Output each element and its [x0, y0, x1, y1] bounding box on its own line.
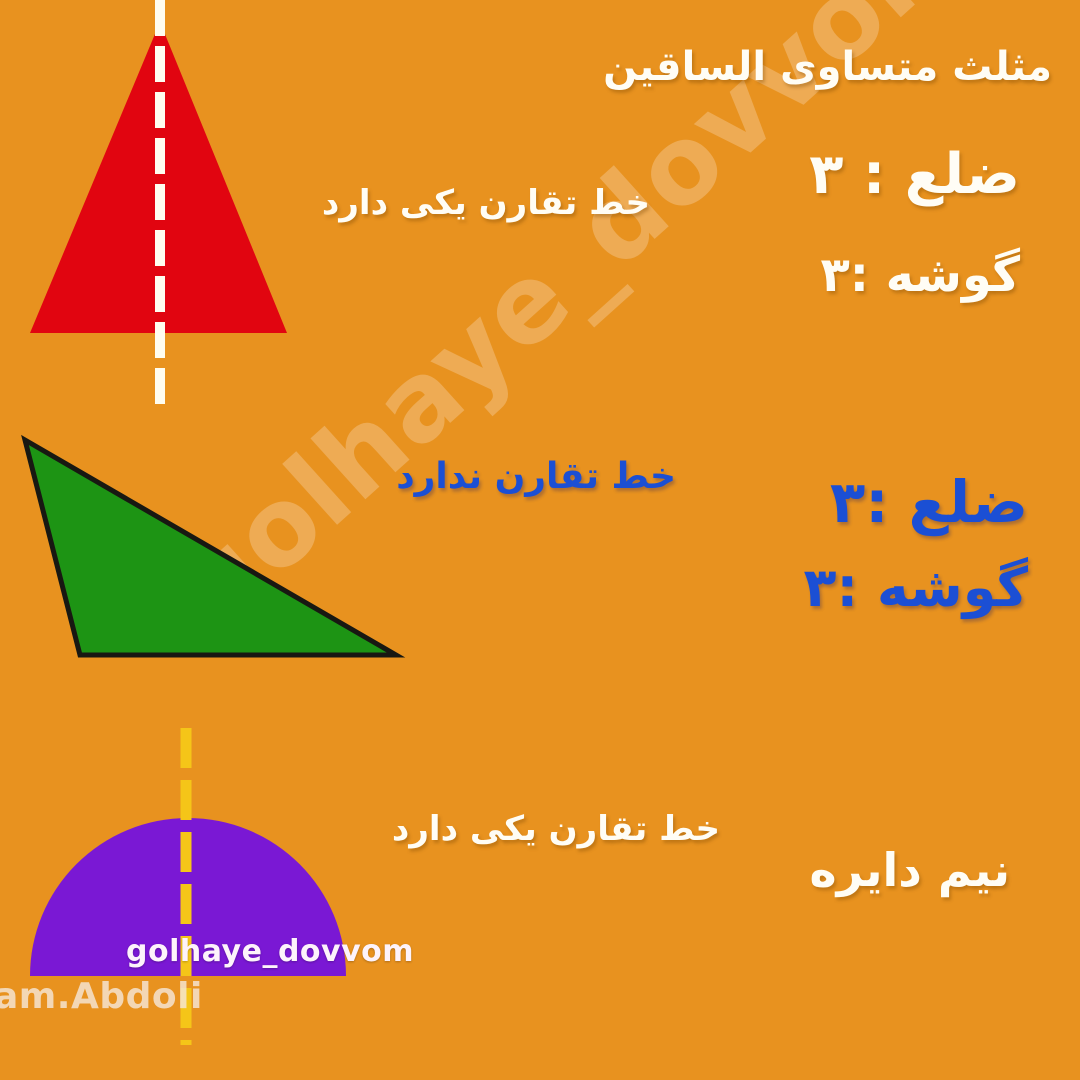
poster-canvas: golhaye_dovvom مثلث متساوی الساقین ضلع :… [0, 0, 1080, 1080]
semicircle-title: نیم دایره [809, 846, 1010, 894]
scalene-side-count: ضلع :٣ [830, 472, 1028, 533]
green-scalene-triangle [25, 440, 396, 655]
scalene-symmetry-note: خط تقارن ندارد [396, 458, 676, 496]
green-scalene-triangle-group [0, 425, 430, 675]
isosceles-triangle-title: مثلث متساوی الساقین [603, 46, 1052, 88]
isosceles-symmetry-note: خط تقارن یکی دارد [322, 186, 650, 222]
semicircle-symmetry-note: خط تقارن یکی دارد [392, 812, 720, 848]
isosceles-side-count: ضلع : ٣ [809, 146, 1020, 205]
scalene-corner-count: گوشه :٣ [804, 560, 1028, 617]
red-isosceles-triangle-group [0, 0, 330, 420]
purple-semicircle-group [0, 700, 400, 1080]
center-watermark: golhaye_dovvom [126, 934, 414, 969]
author-watermark: am.Abdoli [0, 976, 203, 1017]
isosceles-corner-count: گوشه :٣ [820, 250, 1020, 300]
